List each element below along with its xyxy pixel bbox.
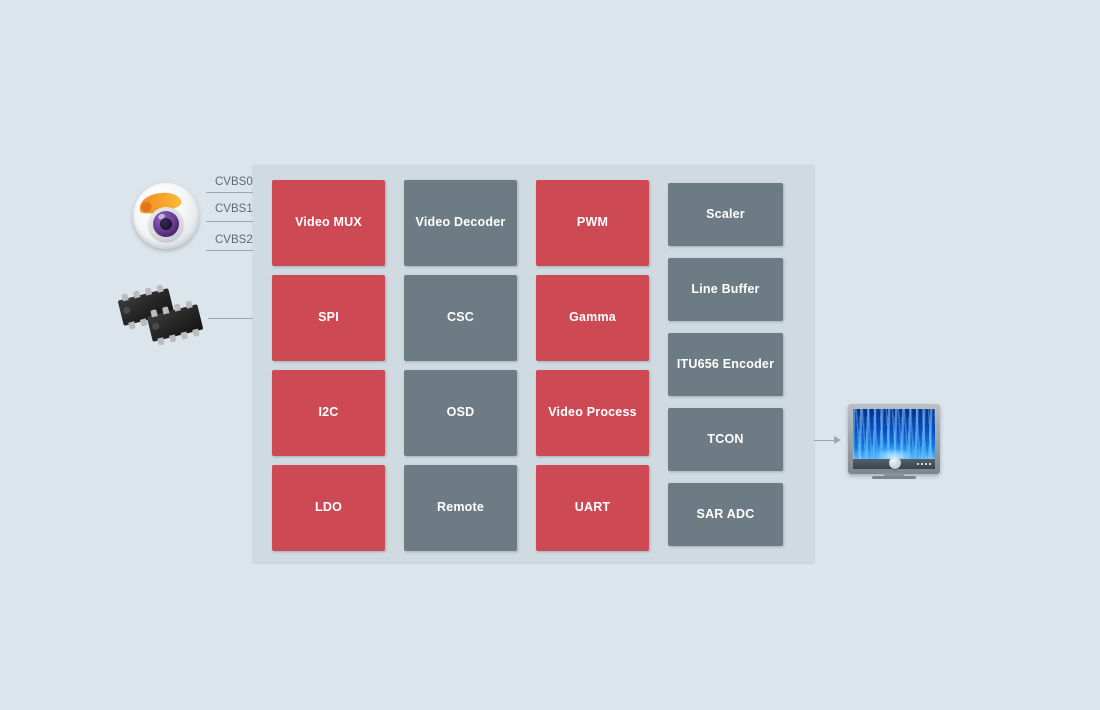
- block-itu656-encoder[interactable]: ITU656 Encoder: [668, 333, 783, 396]
- block-sar-adc[interactable]: SAR ADC: [668, 483, 783, 546]
- block-label: Video Process: [538, 405, 647, 421]
- ic-chip-icon: [116, 290, 212, 346]
- arrowhead-tcon-to-monitor: [834, 436, 841, 444]
- block-video-process[interactable]: Video Process: [536, 370, 649, 456]
- block-label: Video MUX: [274, 215, 383, 231]
- monitor-icon: [848, 404, 940, 480]
- block-tcon[interactable]: TCON: [668, 408, 783, 471]
- diagram-canvas: CVBS0 CVBS1 CVBS2 Video MUX SPI I2C LDO …: [0, 0, 1100, 710]
- block-label: LDO: [274, 500, 383, 516]
- block-remote[interactable]: Remote: [404, 465, 517, 551]
- ic-chip-front: [147, 304, 204, 342]
- monitor-power-button: [889, 457, 901, 469]
- block-label: SPI: [274, 310, 383, 326]
- block-scaler[interactable]: Scaler: [668, 183, 783, 246]
- signal-label-cvbs1: CVBS1: [215, 203, 253, 215]
- block-spi[interactable]: SPI: [272, 275, 385, 361]
- block-label: I2C: [274, 405, 383, 421]
- block-label: TCON: [670, 432, 781, 448]
- monitor-wallpaper: [853, 409, 935, 459]
- chip-pins-bottom: [157, 329, 199, 346]
- block-ldo[interactable]: LDO: [272, 465, 385, 551]
- signal-label-cvbs2: CVBS2: [215, 234, 253, 246]
- block-video-decoder[interactable]: Video Decoder: [404, 180, 517, 266]
- block-label: Gamma: [538, 310, 647, 326]
- block-line-buffer[interactable]: Line Buffer: [668, 258, 783, 321]
- block-gamma[interactable]: Gamma: [536, 275, 649, 361]
- block-label: Remote: [406, 500, 515, 516]
- monitor-foot: [872, 476, 916, 479]
- camera-lens: [153, 211, 179, 237]
- block-label: Scaler: [670, 207, 781, 223]
- monitor-indicator-dots: [917, 463, 931, 465]
- block-uart[interactable]: UART: [536, 465, 649, 551]
- monitor-screen: [853, 409, 935, 459]
- signal-label-cvbs0: CVBS0: [215, 176, 253, 188]
- chip-notch: [122, 306, 130, 314]
- block-label: OSD: [406, 405, 515, 421]
- block-label: Video Decoder: [406, 215, 515, 231]
- chip-pins-top: [121, 284, 163, 301]
- block-label: CSC: [406, 310, 515, 326]
- chip-notch: [151, 322, 159, 330]
- block-video-mux[interactable]: Video MUX: [272, 180, 385, 266]
- block-i2c[interactable]: I2C: [272, 370, 385, 456]
- block-label: ITU656 Encoder: [670, 357, 781, 373]
- block-label: UART: [538, 500, 647, 516]
- block-pwm[interactable]: PWM: [536, 180, 649, 266]
- block-osd[interactable]: OSD: [404, 370, 517, 456]
- block-label: Line Buffer: [670, 282, 781, 298]
- block-label: SAR ADC: [670, 507, 781, 523]
- block-csc[interactable]: CSC: [404, 275, 517, 361]
- camera-icon: [133, 183, 199, 249]
- block-label: PWM: [538, 215, 647, 231]
